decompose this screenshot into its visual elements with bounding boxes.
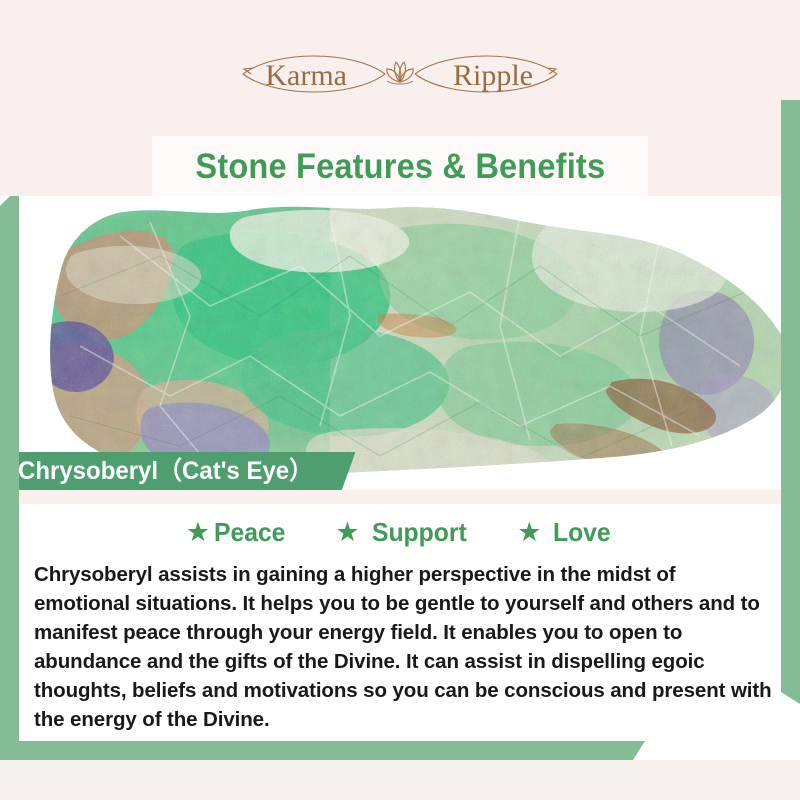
keyword-label: Love [553,519,611,545]
frame-bottom-border [0,741,645,760]
keyword-list: ★ Peace ★ Support ★ Love [0,512,800,552]
star-icon: ★ [186,519,210,546]
stone-name-tag: Chrysoberyl（Cat's Eye） [0,452,355,491]
footer-band [0,760,800,800]
keyword-peace: ★ Peace [186,519,289,546]
star-icon: ★ [335,519,359,546]
stone-photo [0,196,800,490]
keyword-label: Peace [214,519,285,545]
page-title: Stone Features & Benefits [195,149,605,184]
frame-right-border [781,100,800,704]
star-icon: ★ [517,519,541,546]
brand-logo: Karma Ripple [0,44,800,106]
keyword-love: ★ Love [517,519,614,546]
infographic-card: Karma Ripple Stone Features & Benefits [0,0,800,800]
divider-strip [0,490,800,504]
description-text: Chrysoberyl assists in gaining a higher … [34,560,772,734]
keyword-support: ★ Support [335,519,471,546]
logo-word-left: Karma [265,59,347,92]
frame-corner-fill [0,741,20,760]
stone-photo-art [0,196,800,490]
keyword-label: Support [372,519,467,545]
logo-artwork: Karma Ripple [235,44,565,106]
bottom-white-gap [645,741,800,760]
frame-left-border [0,196,19,741]
stone-name-label: Chrysoberyl（Cat's Eye） [18,459,313,484]
title-banner: Stone Features & Benefits [152,136,648,196]
logo-word-right: Ripple [453,59,533,92]
lotus-icon [387,62,413,84]
